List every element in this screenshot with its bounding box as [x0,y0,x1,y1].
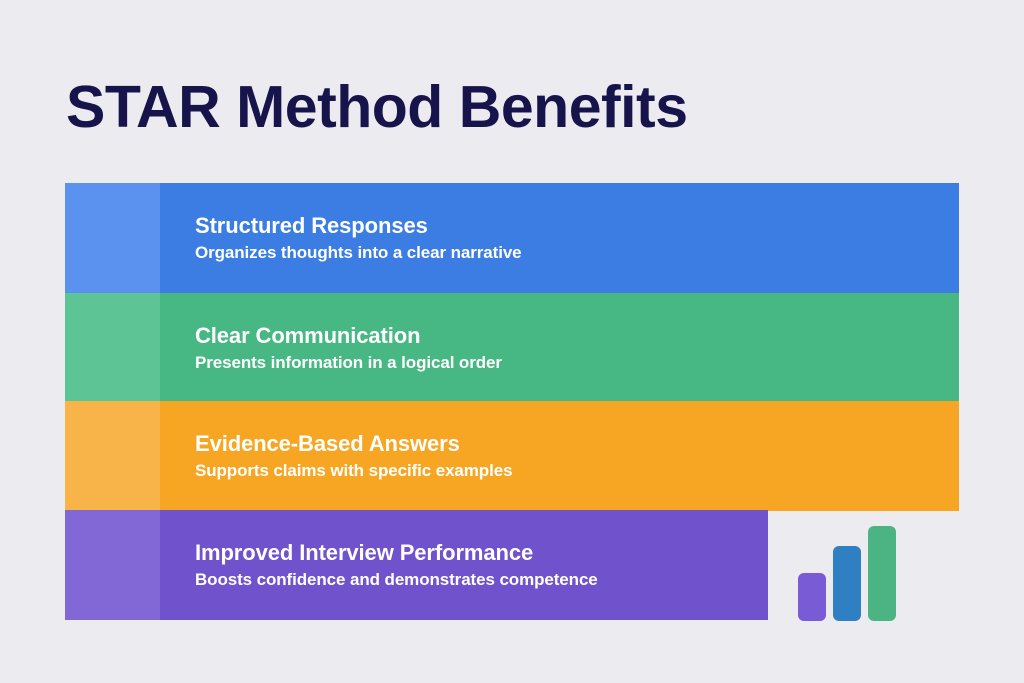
row-accent-bar [65,510,160,620]
benefit-description: Boosts confidence and demonstrates compe… [195,569,598,591]
row-accent-bar [65,293,160,403]
benefit-text-block: Structured Responses Organizes thoughts … [195,212,522,265]
page-title: STAR Method Benefits [66,78,688,137]
mini-bar-chart-icon [798,510,902,621]
benefit-description: Supports claims with specific examples [195,460,512,482]
benefit-row-improved-interview-performance: Improved Interview Performance Boosts co… [65,510,768,620]
benefit-row-clear-communication: Clear Communication Presents information… [65,293,959,403]
benefit-title: Evidence-Based Answers [195,430,512,458]
benefit-text-block: Evidence-Based Answers Supports claims w… [195,430,512,483]
mini-bar-2 [833,546,861,621]
benefit-text-block: Improved Interview Performance Boosts co… [195,539,598,592]
benefit-title: Structured Responses [195,212,522,240]
benefit-text-block: Clear Communication Presents information… [195,322,502,375]
mini-bar-3 [868,526,896,621]
benefit-title: Clear Communication [195,322,502,350]
benefit-description: Presents information in a logical order [195,352,502,374]
infographic-canvas: STAR Method Benefits Structured Response… [0,0,1024,683]
benefit-row-structured-responses: Structured Responses Organizes thoughts … [65,183,959,293]
benefit-description: Organizes thoughts into a clear narrativ… [195,242,522,264]
benefit-title: Improved Interview Performance [195,539,598,567]
mini-bar-1 [798,573,826,621]
row-accent-bar [65,401,160,511]
row-accent-bar [65,183,160,293]
benefit-row-evidence-based-answers: Evidence-Based Answers Supports claims w… [65,401,959,511]
